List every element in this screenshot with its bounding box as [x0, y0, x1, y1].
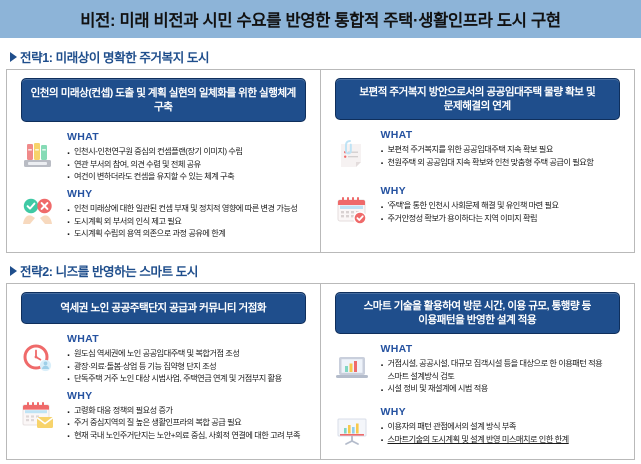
strategy-section-1: 전략1: 미래상이 명확한 주거복지 도시 인천의 미래상(컨셉) 도출 및 계…: [6, 45, 635, 253]
calendar-mail-icon: [15, 389, 61, 431]
list-item: 거점시설, 공공시설, 대규모 집객시설 등을 대상으로 한 이용패턴 적용: [381, 358, 627, 370]
list-item: 주거안정성 확보가 용이하다는 지역 이미지 확립: [381, 213, 627, 225]
strategy-1-right-why-block: WHY '주택'을 통한 인천시 사회문제 해결 및 유인책 마련 필요 주거안…: [329, 184, 627, 226]
triangle-bullet-icon: [10, 52, 17, 62]
strategy-2-right-what-block: WHAT 거점시설, 공공시설, 대규모 집객시설 등을 대상으로 한 이용패턴…: [329, 342, 627, 395]
strategy-2-left-banner: 역세권 노인 공공주택단지 공급과 커뮤니티 거점화: [21, 292, 306, 324]
list-item: 인천시-인천연구원 중심의 컨셉플랜(장기 이미지) 수립: [67, 146, 312, 158]
calendar-check-icon: [329, 184, 375, 226]
strategy-2-right-why-content: WHY 이용자의 패턴 관점에서의 설계 방식 부족 스마트기술의 도시계획 및…: [381, 405, 627, 446]
strategy-2-header: 전략2: 니즈를 반영하는 스마트 도시: [6, 259, 635, 283]
strategy-1-left-column: 인천의 미래상(컨셉) 도출 및 계획 실현의 일체화를 위한 실행체계 구축: [7, 70, 321, 252]
page-title: 비전: 미래 비전과 시민 수요를 반영한 통합적 주택·생활인프라 도시 구현: [80, 7, 560, 31]
what-label: WHAT: [67, 131, 312, 143]
list-item: 도시계획 외 부서의 인식 제고 필요: [67, 216, 312, 228]
why-bullet-list: 이용자의 패턴 관점에서의 설계 방식 부족 스마트기술의 도시계획 및 설계 …: [381, 421, 627, 446]
list-item: 고령화 대응 정책의 필요성 증가: [67, 405, 312, 417]
what-bullet-list: 원도심 역세권에 노인 공공임대주택 및 복합거점 조성 광장·의료·돌봄·상업…: [67, 348, 312, 385]
list-item: 여건이 변하더라도 컨셉을 유지할 수 있는 체계 구축: [67, 171, 312, 183]
list-item-continuation: 스마트 설계방식 검토: [381, 371, 627, 383]
strategy-1-right-column: 보편적 주거복지 방안으로서의 공공임대주택 물량 확보 및 문제해결의 연계: [321, 70, 635, 252]
what-label: WHAT: [67, 333, 312, 345]
why-label: WHY: [67, 390, 312, 402]
strategy-1-right-what-content: WHAT 보편적 주거복지를 위한 공공임대주택 지속 확보 필요 천원주택 외…: [381, 128, 627, 169]
strategy-2-right-column: 스마트 기술을 활용하여 방문 시간, 이용 규모, 통행량 등 이용패턴을 반…: [321, 284, 635, 459]
why-bullet-list: 인천 미래상에 대한 일관된 컨셉 부재 및 정치적 영향에 따른 변경 가능성…: [67, 203, 312, 240]
strategy-1-left-banner: 인천의 미래상(컨셉) 도출 및 계획 실현의 일체화를 위한 실행체계 구축: [21, 78, 306, 122]
strategy-section-2: 전략2: 니즈를 반영하는 스마트 도시 역세권 노인 공공주택단지 공급과 커…: [6, 259, 635, 460]
strategy-1-right-what-block: WHAT 보편적 주거복지를 위한 공공임대주택 지속 확보 필요 천원주택 외…: [329, 128, 627, 170]
document-clip-icon: [329, 128, 375, 170]
list-item: 인천 미래상에 대한 일관된 컨셉 부재 및 정치적 영향에 따른 변경 가능성: [67, 203, 312, 215]
list-item: '주택'을 통한 인천시 사회문제 해결 및 유인책 마련 필요: [381, 200, 627, 212]
list-item: 현재 국내 노인주거단지는 노안+의료 중심, 사회적 연결에 대한 고려 부족: [67, 430, 312, 442]
list-item: 시설 정비 및 재설계에 시범 적용: [381, 383, 627, 395]
strategy-2-panel: 역세권 노인 공공주택단지 공급과 커뮤니티 거점화: [6, 283, 635, 460]
strategy-2-left-why-content: WHY 고령화 대응 정책의 필요성 증가 주거 중심지역의 질 높은 생활인프…: [67, 389, 312, 442]
why-bullet-list: '주택'을 통한 인천시 사회문제 해결 및 유인책 마련 필요 주거안정성 확…: [381, 200, 627, 225]
list-item: 연관 부서의 참여, 의견 수렴 및 전체 공유: [67, 159, 312, 171]
slide-body: 전략1: 미래상이 명확한 주거복지 도시 인천의 미래상(컨셉) 도출 및 계…: [0, 39, 641, 464]
list-item: 주거 중심지역의 질 높은 생활인프라의 복합 공급 필요: [67, 417, 312, 429]
check-cross-hands-icon: [15, 187, 61, 227]
strategy-1-panel: 인천의 미래상(컨셉) 도출 및 계획 실현의 일체화를 위한 실행체계 구축: [6, 69, 635, 253]
strategy-2-left-column: 역세권 노인 공공주택단지 공급과 커뮤니티 거점화: [7, 284, 321, 459]
strategy-1-left-why-block: WHY 인천 미래상에 대한 일관된 컨셉 부재 및 정치적 영향에 따른 변경…: [15, 187, 312, 240]
list-item: 단독주택 거주 노인 대상 시범사업, 주택연금 연계 및 거점부지 활용: [67, 373, 312, 385]
why-label: WHY: [67, 188, 312, 200]
presentation-chart-icon: [329, 405, 375, 447]
strategy-2-right-what-content: WHAT 거점시설, 공공시설, 대규모 집객시설 등을 대상으로 한 이용패턴…: [381, 342, 627, 395]
strategy-1-header: 전략1: 미래상이 명확한 주거복지 도시: [6, 45, 635, 69]
list-item: 스마트기술의 도시계획 및 설계 반영 미스매치로 인한 한계: [381, 434, 627, 446]
strategy-2-left-why-block: WHY 고령화 대응 정책의 필요성 증가 주거 중심지역의 질 높은 생활인프…: [15, 389, 312, 442]
strategy-2-left-what-block: WHAT 원도심 역세권에 노인 공공임대주택 및 복합거점 조성 광장·의료·…: [15, 332, 312, 385]
strategy-1-right-banner: 보편적 주거복지 방안으로서의 공공임대주택 물량 확보 및 문제해결의 연계: [335, 78, 621, 120]
slide-root: 비전: 미래 비전과 시민 수요를 반영한 통합적 주택·생활인프라 도시 구현…: [0, 0, 641, 454]
books-icon: [15, 130, 61, 170]
list-item: 원도심 역세권에 노인 공공임대주택 및 복합거점 조성: [67, 348, 312, 360]
strategy-1-left-what-content: WHAT 인천시-인천연구원 중심의 컨셉플랜(장기 이미지) 수립 연관 부서…: [67, 130, 312, 183]
list-item: 도시계획 수립의 용역 의존으로 과정 공유에 한계: [67, 228, 312, 240]
strategy-2-right-why-block: WHY 이용자의 패턴 관점에서의 설계 방식 부족 스마트기술의 도시계획 및…: [329, 405, 627, 447]
strategy-1-right-why-content: WHY '주택'을 통한 인천시 사회문제 해결 및 유인책 마련 필요 주거안…: [381, 184, 627, 225]
list-item: 보편적 주거복지를 위한 공공임대주택 지속 확보 필요: [381, 144, 627, 156]
slide-title-bar: 비전: 미래 비전과 시민 수요를 반영한 통합적 주택·생활인프라 도시 구현: [0, 0, 641, 39]
strategy-2-left-what-content: WHAT 원도심 역세권에 노인 공공임대주택 및 복합거점 조성 광장·의료·…: [67, 332, 312, 385]
list-item: 천원주택 외 공공임대 지속 확보와 인천 맞춤형 주택 공급이 필요함: [381, 157, 627, 169]
triangle-bullet-icon: [10, 266, 17, 276]
laptop-chart-icon: [329, 342, 375, 382]
what-bullet-list: 거점시설, 공공시설, 대규모 집객시설 등을 대상으로 한 이용패턴 적용 스…: [381, 358, 627, 395]
why-bullet-list: 고령화 대응 정책의 필요성 증가 주거 중심지역의 질 높은 생활인프라의 복…: [67, 405, 312, 442]
list-item: 광장·의료·돌봄·상업 등 기능 집약형 단지 조성: [67, 361, 312, 373]
what-label: WHAT: [381, 343, 627, 355]
strategy-1-left-what-block: WHAT 인천시-인천연구원 중심의 컨셉플랜(장기 이미지) 수립 연관 부서…: [15, 130, 312, 183]
what-label: WHAT: [381, 129, 627, 141]
strategy-2-label: 전략2: 니즈를 반영하는 스마트 도시: [20, 261, 198, 280]
strategy-1-label: 전략1: 미래상이 명확한 주거복지 도시: [20, 47, 209, 66]
strategy-2-right-banner: 스마트 기술을 활용하여 방문 시간, 이용 규모, 통행량 등 이용패턴을 반…: [335, 292, 621, 334]
why-label: WHY: [381, 406, 627, 418]
list-item: 이용자의 패턴 관점에서의 설계 방식 부족: [381, 421, 627, 433]
strategy-1-left-why-content: WHY 인천 미래상에 대한 일관된 컨셉 부재 및 정치적 영향에 따른 변경…: [67, 187, 312, 240]
why-label: WHY: [381, 185, 627, 197]
clock-person-icon: [15, 332, 61, 374]
what-bullet-list: 보편적 주거복지를 위한 공공임대주택 지속 확보 필요 천원주택 외 공공임대…: [381, 144, 627, 169]
what-bullet-list: 인천시-인천연구원 중심의 컨셉플랜(장기 이미지) 수립 연관 부서의 참여,…: [67, 146, 312, 183]
